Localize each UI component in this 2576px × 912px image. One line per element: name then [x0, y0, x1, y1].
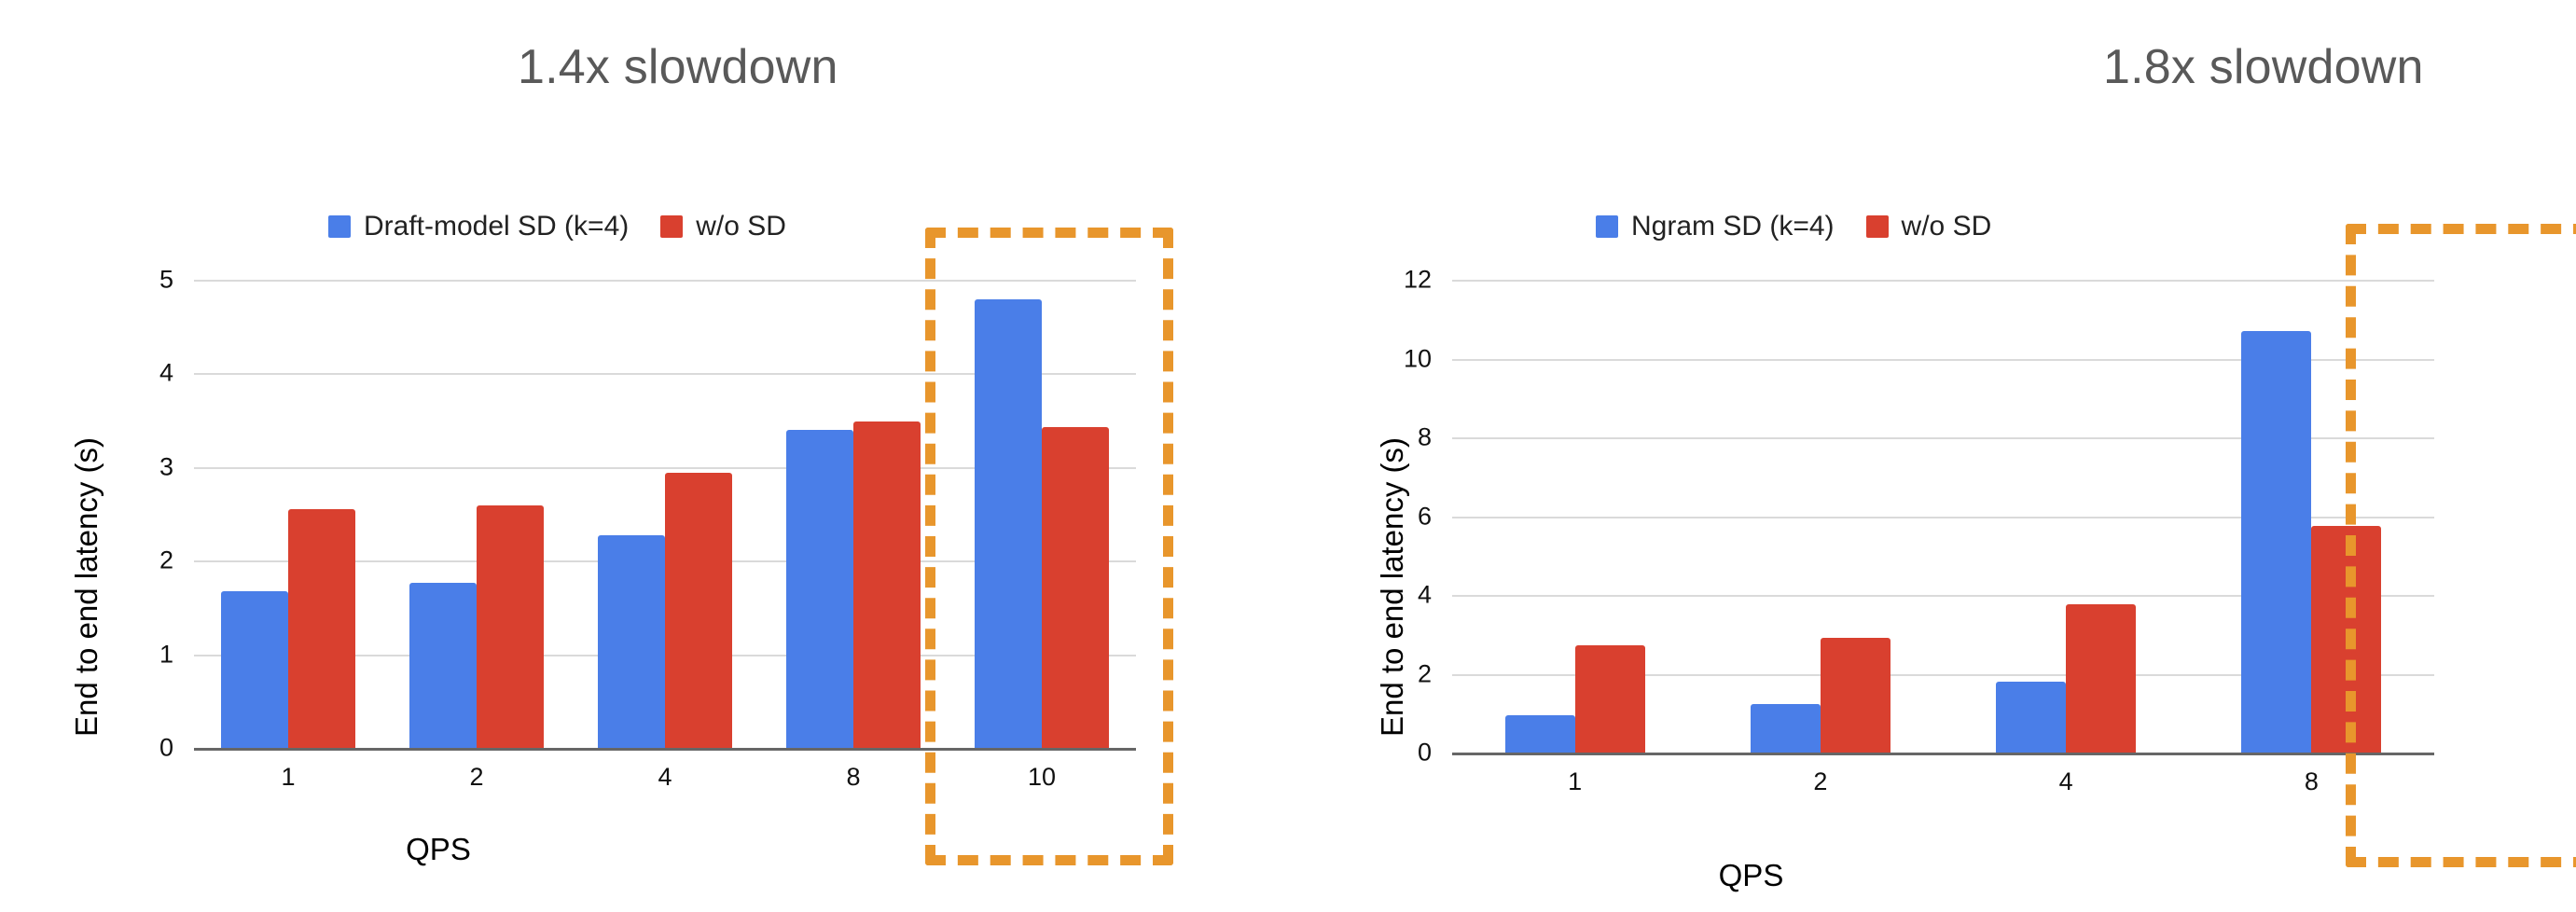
bar-no-sd [1042, 427, 1109, 748]
plot-area-right: End to end latency (s) QPS 024681012 124… [1306, 0, 2576, 912]
y-axis-tick-label: 12 [1404, 266, 1432, 295]
bar-sd [1505, 715, 1575, 753]
gridline [194, 748, 1136, 751]
bar-group: 2 [1697, 280, 1943, 753]
bar-group: 2 [382, 280, 571, 748]
y-axis-tick-label: 4 [1418, 581, 1432, 610]
y-axis-tick-label: 8 [1418, 423, 1432, 452]
bar-sd [2241, 331, 2311, 753]
y-axis-tick-label: 2 [159, 546, 173, 575]
x-axis-tick-label: 4 [2059, 767, 2073, 796]
bar-group: 4 [571, 280, 759, 748]
grid-area-right: 024681012 1248 [1452, 280, 2434, 753]
y-axis-tick-label: 2 [1418, 659, 1432, 688]
bars-left: 124810 [194, 280, 1136, 748]
x-axis-tick-label: 8 [2305, 767, 2319, 796]
bar-sd [1996, 682, 2066, 753]
plot-area-left: End to end latency (s) QPS 012345 124810 [0, 0, 1306, 912]
bar-group: 1 [194, 280, 382, 748]
y-axis-tick-label: 0 [1418, 739, 1432, 767]
bar-no-sd [2311, 526, 2381, 753]
bar-no-sd [665, 473, 732, 748]
bar-group: 10 [948, 280, 1136, 748]
x-axis-tick-label: 8 [846, 763, 860, 792]
y-axis-tick-label: 10 [1404, 344, 1432, 373]
y-axis-tick-label: 6 [1418, 502, 1432, 531]
x-axis-tick-label: 2 [469, 763, 483, 792]
bar-no-sd [288, 509, 355, 748]
chart-panel-right: 1.8x slowdown Ngram SD (k=4) w/o SD End … [1306, 0, 2576, 912]
bar-sd [786, 430, 853, 748]
x-axis-tick-label: 2 [1813, 767, 1827, 796]
bar-sd [221, 591, 288, 748]
y-axis-tick-label: 5 [159, 266, 173, 295]
bar-sd [598, 535, 665, 748]
x-axis-tick-label: 1 [281, 763, 295, 792]
grid-area-left: 012345 124810 [194, 280, 1136, 748]
bar-sd [1751, 704, 1821, 753]
bar-no-sd [1575, 645, 1645, 753]
bar-group: 1 [1452, 280, 1697, 753]
x-axis-label: QPS [0, 832, 877, 867]
slide-canvas: 1.4x slowdown Draft-model SD (k=4) w/o S… [0, 0, 2576, 912]
bar-sd [975, 299, 1042, 748]
bar-no-sd [2066, 604, 2136, 753]
y-axis-tick-label: 1 [159, 640, 173, 669]
x-axis-tick-label: 10 [1028, 763, 1056, 792]
x-axis-tick-label: 4 [658, 763, 672, 792]
y-axis-label: End to end latency (s) [1375, 437, 1410, 737]
y-axis-tick-label: 3 [159, 452, 173, 481]
y-axis-tick-label: 0 [159, 734, 173, 763]
x-axis-label: QPS [1306, 858, 2196, 893]
chart-panel-left: 1.4x slowdown Draft-model SD (k=4) w/o S… [0, 0, 1306, 912]
bar-group: 4 [1944, 280, 2189, 753]
bar-group: 8 [2189, 280, 2434, 753]
bars-right: 1248 [1452, 280, 2434, 753]
bar-sd [409, 583, 477, 748]
y-axis-tick-label: 4 [159, 359, 173, 388]
bar-no-sd [853, 421, 921, 748]
x-axis-tick-label: 1 [1568, 767, 1582, 796]
bar-no-sd [1821, 638, 1890, 753]
bar-group: 8 [759, 280, 948, 748]
gridline [1452, 753, 2434, 755]
y-axis-label: End to end latency (s) [69, 437, 104, 737]
bar-no-sd [477, 505, 544, 748]
